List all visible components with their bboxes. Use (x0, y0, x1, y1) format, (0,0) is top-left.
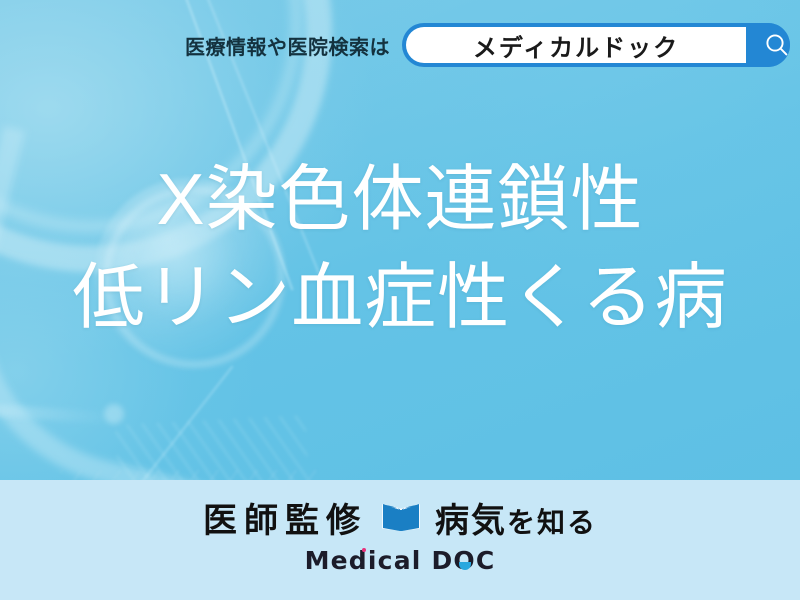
search-pill[interactable] (402, 23, 790, 67)
brand-o-letter: O (453, 546, 475, 575)
brand-suffix: C (476, 546, 496, 575)
hero-title-line-2: 低リン血症性くる病 (0, 250, 800, 348)
illness-word: 病気 (435, 502, 507, 540)
supervised-by-doctor-label: 医師監修 (203, 493, 367, 542)
brand-prefix: Medical D (305, 546, 454, 575)
medical-instrument-tip (104, 404, 124, 424)
footer-band: 医師監修 病気を知る Medical DOC (0, 480, 800, 600)
open-book-icon (381, 501, 421, 533)
footer-tagline-row: 医師監修 病気を知る (203, 494, 597, 540)
search-lead-label: 医療情報や医院検索は (185, 31, 390, 60)
hero-title: X染色体連鎖性 低リン血症性くる病 (0, 152, 800, 348)
know-your-illness-label: 病気を知る (435, 493, 597, 542)
brand-logo: Medical DOC (305, 546, 496, 575)
search-icon (762, 30, 790, 60)
brand-i-dot-accent (362, 548, 366, 552)
hero-title-line-1: X染色体連鎖性 (0, 152, 800, 250)
search-bar: 医療情報や医院検索は (0, 22, 800, 68)
brand-o-char: O (453, 546, 475, 575)
hero-banner: 医療情報や医院検索は X染色体連鎖性 低リン血症性くる病 医師監修 (0, 0, 800, 600)
search-button[interactable] (746, 23, 790, 67)
illness-particle: を知る (507, 507, 597, 538)
search-input[interactable] (406, 27, 746, 63)
